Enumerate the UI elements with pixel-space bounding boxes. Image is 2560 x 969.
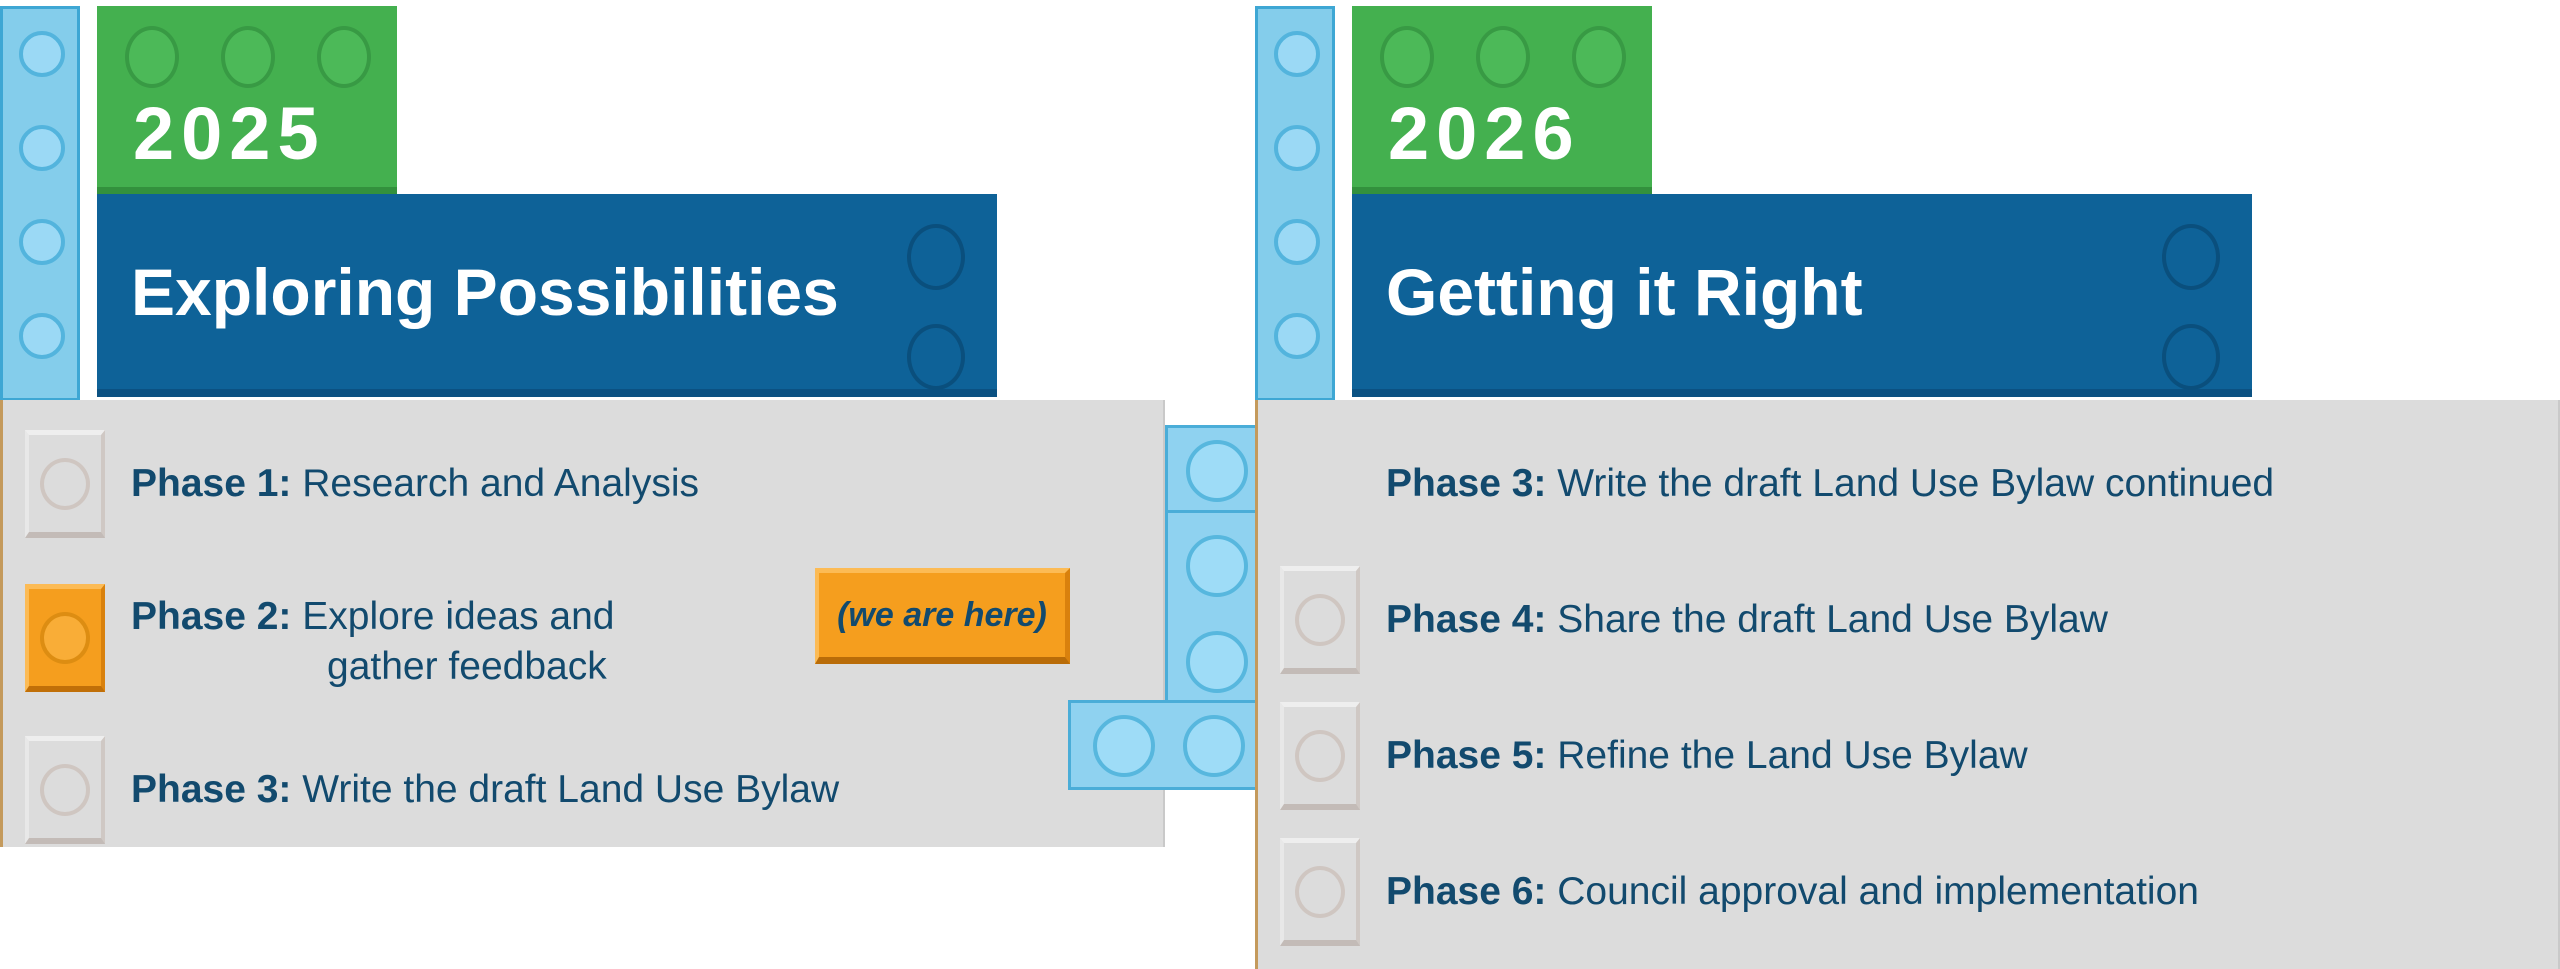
stud [19,31,65,77]
phase-text: Phase 4: Share the draft Land Use Bylaw [1386,595,2108,645]
phase-chip-dot [40,764,90,816]
stud [221,26,275,88]
left-rail-brick [0,6,80,401]
phase-description: Research and Analysis [302,462,699,505]
phase-description: Write the draft Land Use Bylaw continued [1557,462,2274,505]
stud [1274,31,1320,77]
phase-label: Phase 5: [1386,734,1546,777]
phase-chip-dot [1295,594,1345,646]
stud [1093,715,1155,777]
stud [1380,26,1434,88]
phase-text: Phase 1: Research and Analysis [131,459,699,509]
stud [1186,631,1248,693]
stud [1476,26,1530,88]
phase-row: Phase 5: Refine the Land Use Bylaw [1258,688,2558,824]
stud [907,224,965,290]
stud [19,125,65,171]
title-label-2025: Exploring Possibilities [131,254,839,330]
stud [1274,313,1320,359]
stud [1274,125,1320,171]
phase-description: Share the draft Land Use Bylaw [1557,598,2108,641]
phase-chip-dot [1295,730,1345,782]
we-are-here-label: (we are here) [837,596,1047,635]
stud [125,26,179,88]
phase-text: Phase 3: Write the draft Land Use Bylaw … [1386,459,2274,509]
phase-row: Phase 3: Write the draft Land Use Bylaw [3,722,1163,858]
stud [1183,715,1245,777]
title-brick-2025: Exploring Possibilities [97,194,997,397]
phase-row: Phase 1: Research and Analysis [3,416,1163,552]
phase-chip-current [1280,430,1360,538]
phase-description: Council approval and implementation [1557,870,2199,913]
phase-row: Phase 3: Write the draft Land Use Bylaw … [1258,416,2558,552]
year-brick-2025: 2025 [97,6,397,194]
phase-label: Phase 1: [131,462,291,505]
timeline-column-2025: 2025 Exploring Possibilities Phase 1: Re… [0,0,1170,860]
stud [2162,324,2220,390]
stud [1274,219,1320,265]
stud [1186,440,1248,502]
connector-bottom-horizontal [1068,700,1266,790]
phase-label: Phase 3: [131,768,291,811]
year-brick-2026: 2026 [1352,6,1652,194]
phase-panel-2026: Phase 3: Write the draft Land Use Bylaw … [1255,400,2560,969]
phase-label: Phase 6: [1386,870,1546,913]
phase-row: Phase 4: Share the draft Land Use Bylaw [1258,552,2558,688]
stud [19,313,65,359]
phase-description: Refine the Land Use Bylaw [1557,734,2027,777]
year-label-2026: 2026 [1388,97,1581,171]
phase-chip [25,430,105,538]
phase-text: Phase 2: Explore ideas and gather feedba… [131,592,614,692]
stud [1186,535,1248,597]
phase-description: Explore ideas and [302,595,614,638]
phase-text: Phase 3: Write the draft Land Use Bylaw [131,765,839,815]
phase-chip [1280,566,1360,674]
stud [19,219,65,265]
timeline-column-2026: 2026 Getting it Right Phase 3: Write the… [1255,0,2560,969]
phase-chip [1280,838,1360,946]
phase-description: Write the draft Land Use Bylaw [302,768,839,811]
phase-chip-dot [1295,866,1345,918]
stud [2162,224,2220,290]
phase-text: Phase 5: Refine the Land Use Bylaw [1386,731,2028,781]
phase-chip-current [25,584,105,692]
phase-chip [25,736,105,844]
we-are-here-badge: (we are here) [815,568,1070,664]
phase-text: Phase 6: Council approval and implementa… [1386,867,2199,917]
stud [907,324,965,390]
right-rail-brick [1255,6,1335,401]
phase-label: Phase 2: [131,595,291,638]
phase-chip-dot [40,458,90,510]
phase-label: Phase 4: [1386,598,1546,641]
phase-label: Phase 3: [1386,462,1546,505]
phase-row: Phase 6: Council approval and implementa… [1258,824,2558,960]
phase-chip-dot [40,612,90,664]
title-brick-2026: Getting it Right [1352,194,2252,397]
phase-chip [1280,702,1360,810]
stud [317,26,371,88]
year-label-2025: 2025 [133,97,326,171]
phase-description-line2: gather feedback [131,642,614,692]
stud [1572,26,1626,88]
title-label-2026: Getting it Right [1386,254,1863,330]
